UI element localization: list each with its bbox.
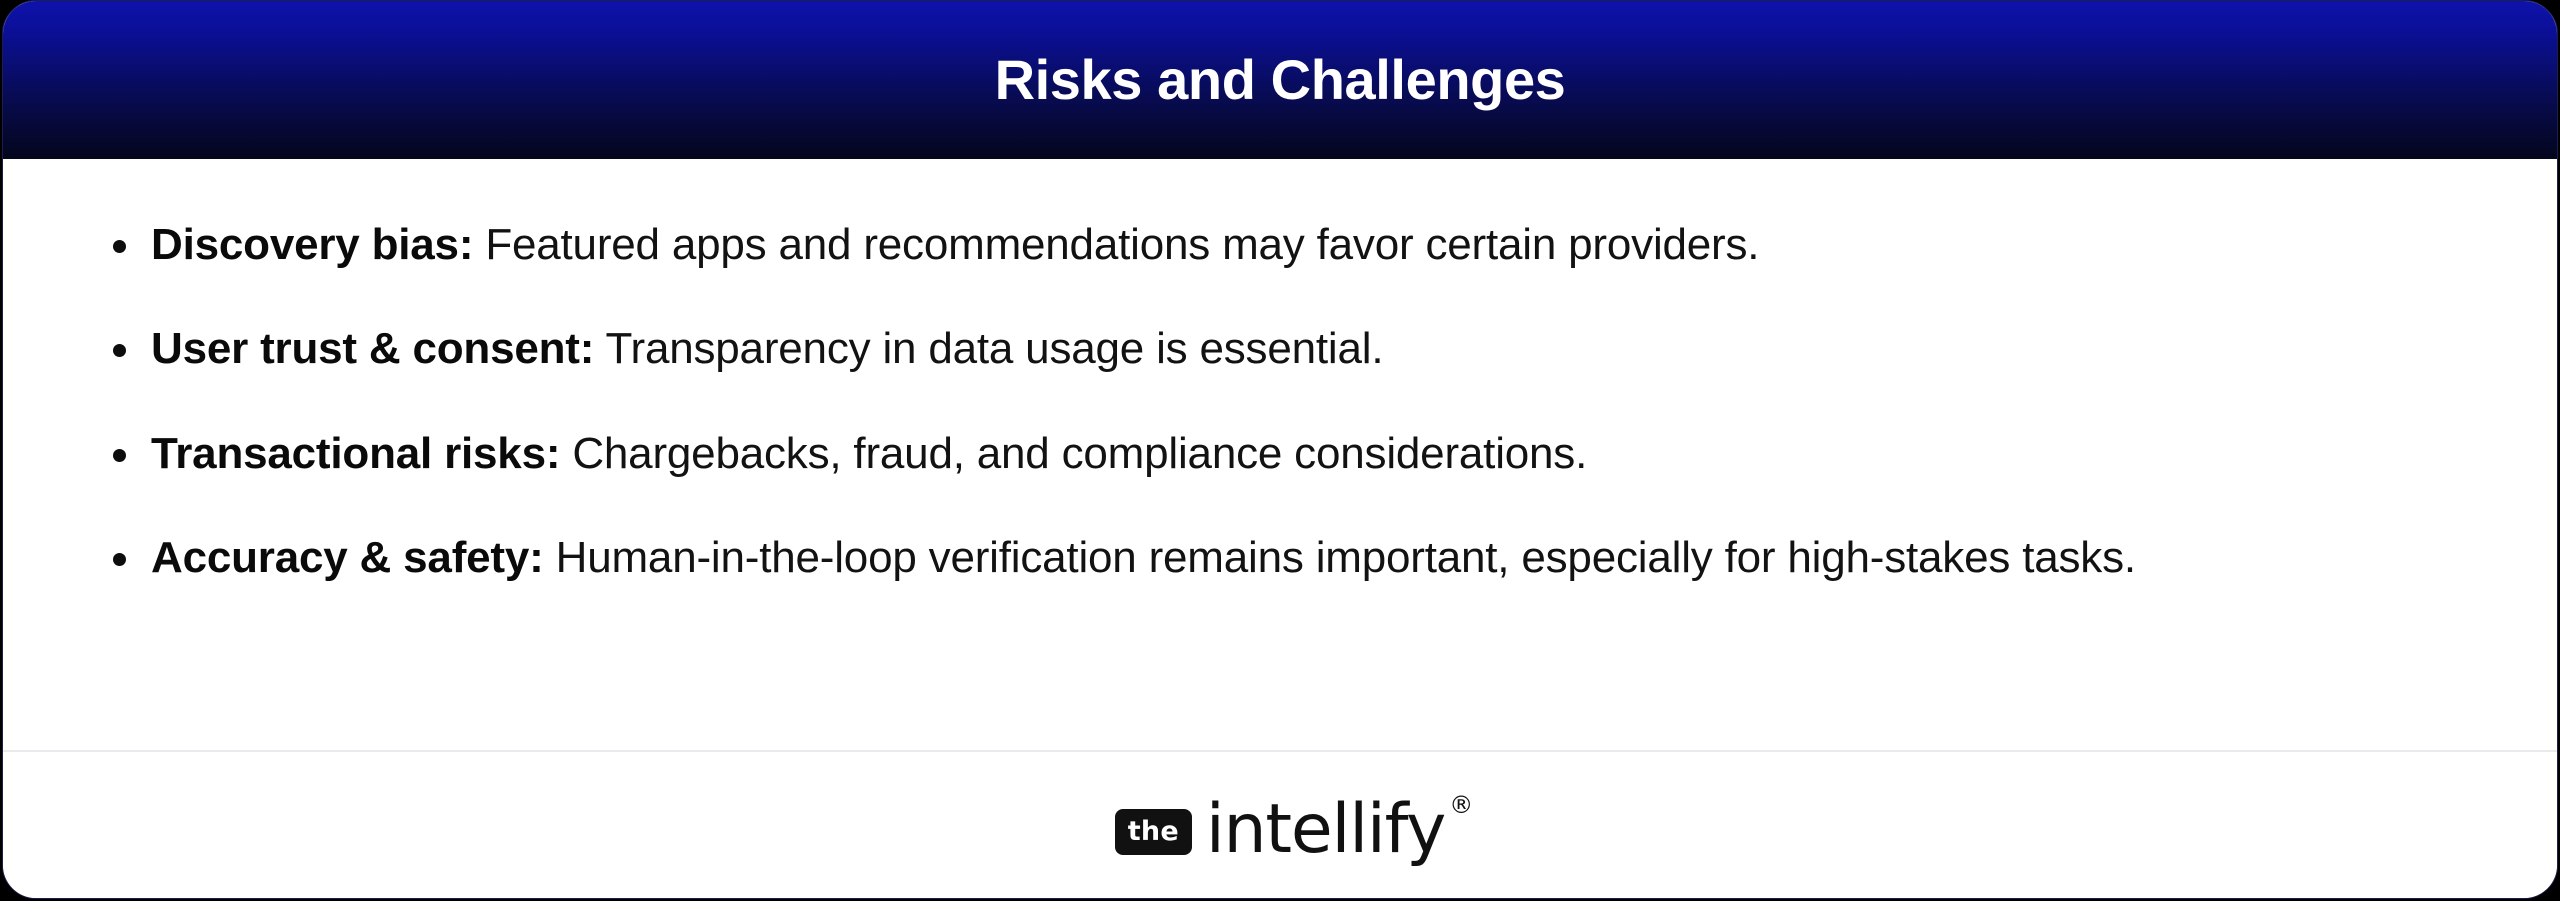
logo-the-badge: the (1115, 809, 1192, 855)
slide-card: Risks and Challenges Discovery bias: Fea… (2, 0, 2558, 899)
list-item-text: Human-in-the-loop verification remains i… (556, 533, 2136, 582)
list-item-lead: Discovery bias: (151, 220, 473, 269)
list-item: Accuracy & safety: Human-in-the-loop ver… (99, 527, 2461, 589)
list-item-text: Featured apps and recommendations may fa… (485, 220, 1759, 269)
bullet-list: Discovery bias: Featured apps and recomm… (99, 214, 2461, 590)
bullet-dot-icon (113, 553, 126, 566)
registered-trademark-icon: ® (1449, 793, 1473, 817)
brand-logo: the intellify ® (1115, 788, 1445, 862)
list-item-text: Chargebacks, fraud, and compliance consi… (572, 429, 1587, 478)
list-item-lead: Transactional risks: (151, 429, 560, 478)
list-item-lead: Accuracy & safety: (151, 533, 544, 582)
logo-wordmark: intellify ® (1206, 799, 1445, 862)
bullet-dot-icon (113, 344, 126, 357)
list-item-text: Transparency in data usage is essential. (605, 324, 1383, 373)
bullet-dot-icon (113, 449, 126, 462)
slide-header: Risks and Challenges (3, 1, 2557, 159)
page-title: Risks and Challenges (995, 52, 1566, 108)
slide-body: Discovery bias: Featured apps and recomm… (3, 159, 2557, 750)
logo-name-text: intellify (1206, 790, 1445, 869)
list-item: Discovery bias: Featured apps and recomm… (99, 214, 2461, 276)
list-item: Transactional risks: Chargebacks, fraud,… (99, 423, 2461, 485)
list-item: User trust & consent: Transparency in da… (99, 318, 2461, 380)
bullet-dot-icon (113, 240, 126, 253)
slide-footer: the intellify ® (3, 750, 2557, 898)
list-item-lead: User trust & consent: (151, 324, 594, 373)
